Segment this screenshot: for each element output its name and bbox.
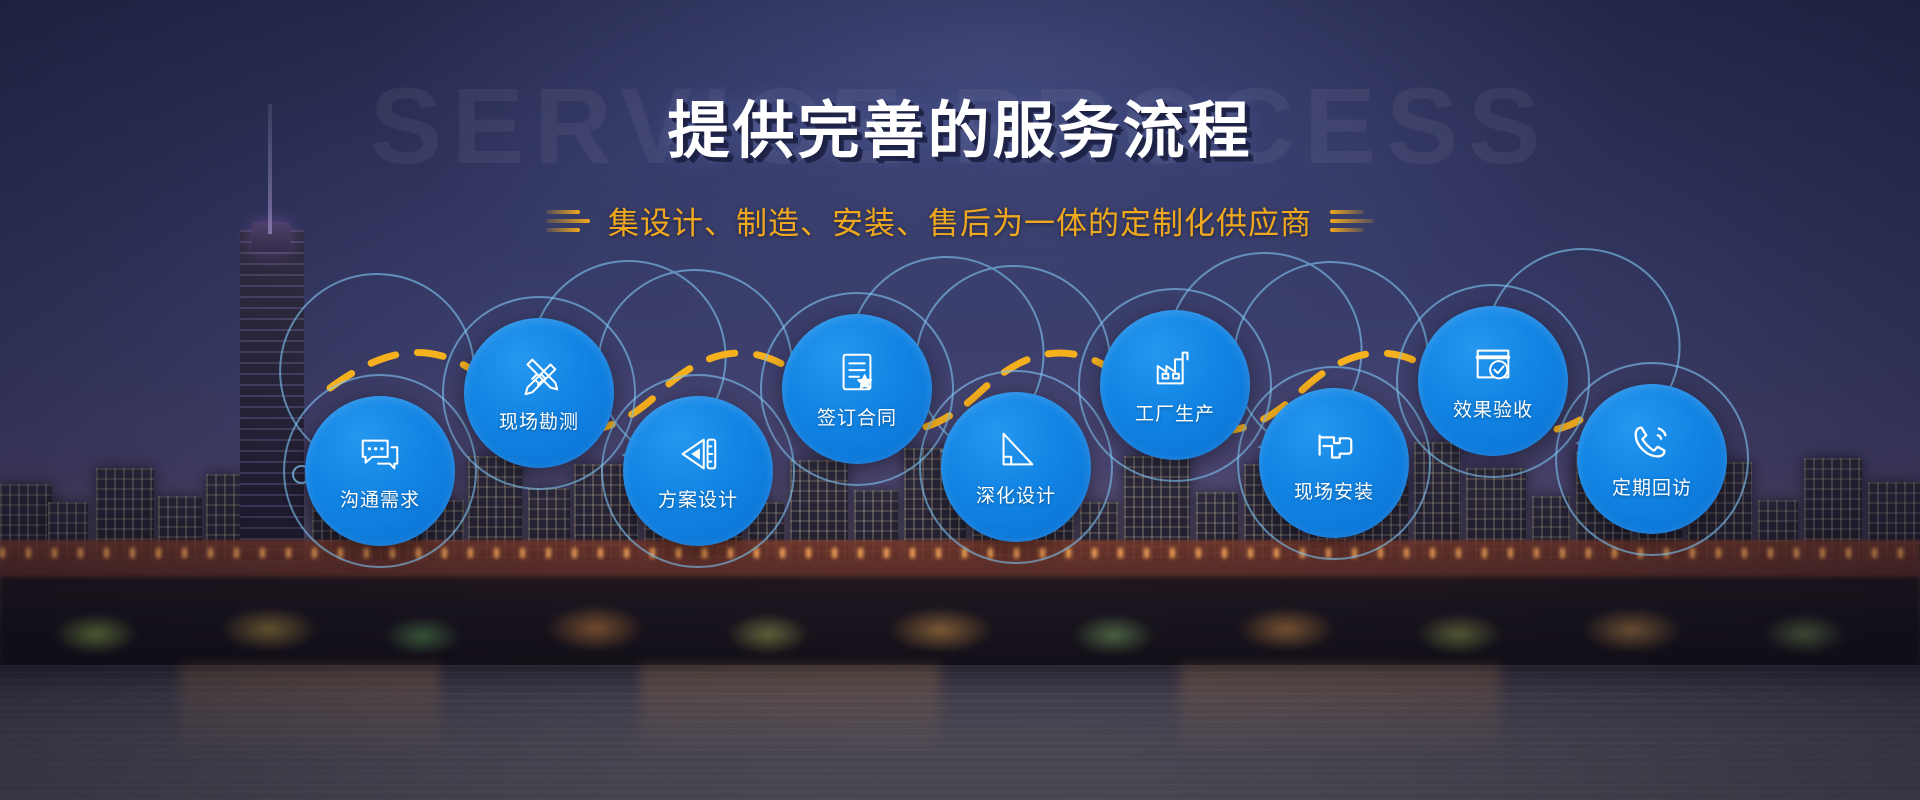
phone-call-icon — [1629, 419, 1675, 465]
process-step-4[interactable]: 签订合同 — [782, 314, 932, 464]
process-step-label: 签订合同 — [817, 403, 897, 430]
process-step-1[interactable]: 沟通需求 — [305, 396, 455, 546]
contract-seal-icon — [834, 349, 880, 395]
power-drill-icon — [1311, 423, 1357, 469]
process-step-label: 现场安装 — [1294, 477, 1374, 504]
set-square-icon — [993, 427, 1039, 473]
process-step-label: 定期回访 — [1612, 473, 1692, 500]
process-step-label: 深化设计 — [976, 481, 1056, 508]
process-step-3[interactable]: 方案设计 — [623, 396, 773, 546]
process-step-label: 效果验收 — [1453, 395, 1533, 422]
process-step-7[interactable]: 现场安装 — [1259, 388, 1409, 538]
process-step-5[interactable]: 深化设计 — [941, 392, 1091, 542]
process-step-label: 沟通需求 — [340, 485, 420, 512]
process-flow: 沟通需求 现场勘测 — [0, 0, 1920, 800]
process-step-label: 现场勘测 — [499, 407, 579, 434]
window-check-icon — [1470, 341, 1516, 387]
process-step-6[interactable]: 工厂生产 — [1100, 310, 1250, 460]
banner-stage: SERVICE PROCESS 提供完善的服务流程 集设计、制造、安装、售后为一… — [0, 0, 1920, 800]
ruler-triangle-icon — [675, 431, 721, 477]
chat-bubble-icon — [357, 431, 403, 477]
process-step-label: 工厂生产 — [1135, 399, 1215, 426]
process-step-2[interactable]: 现场勘测 — [464, 318, 614, 468]
ruler-pencil-cross-icon — [516, 353, 562, 399]
factory-icon — [1152, 345, 1198, 391]
process-step-label: 方案设计 — [658, 485, 738, 512]
process-step-9[interactable]: 定期回访 — [1577, 384, 1727, 534]
process-step-8[interactable]: 效果验收 — [1418, 306, 1568, 456]
